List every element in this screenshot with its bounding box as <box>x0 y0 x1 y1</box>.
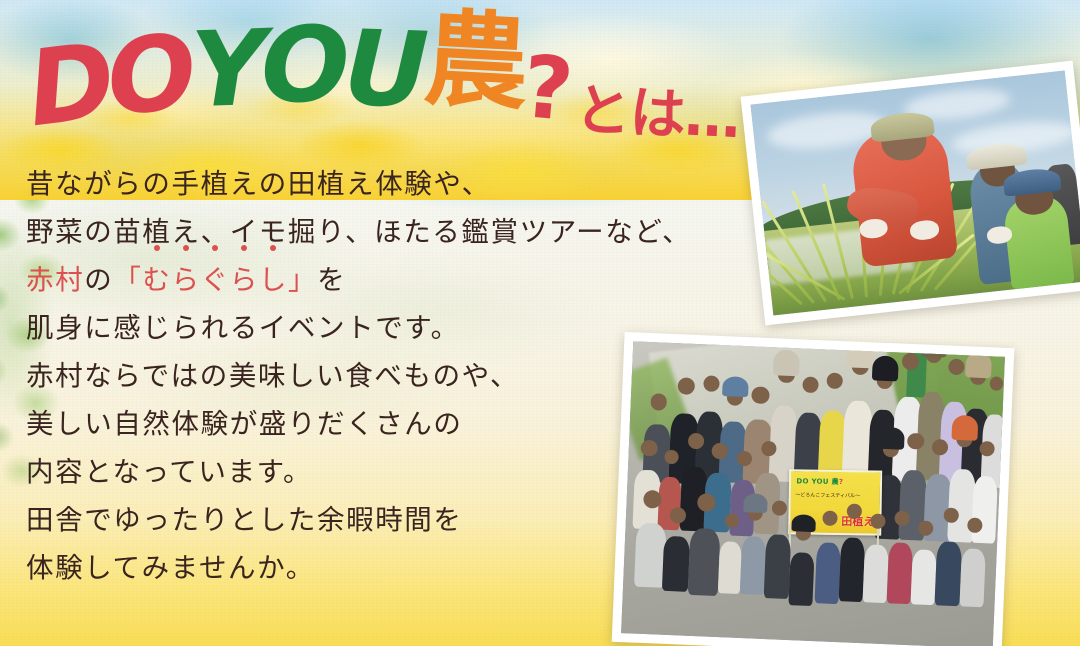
body-line-3-open-quote: 「 <box>113 264 142 296</box>
group-person <box>935 541 962 606</box>
group-scene: DO YOU 農? 〜どろんこフェスティバル〜 田植え <box>621 341 1005 646</box>
photo-group-shot: DO YOU 農? 〜どろんこフェスティバル〜 田植え <box>612 332 1015 646</box>
event-sign-line2: 〜どろんこフェスティバル〜 <box>795 491 860 499</box>
body-copy: 昔ながらの手植えの田植え体験や、 野菜の苗植え、イモ掘り、ほたる鑑賞ツアーなど、… <box>26 160 626 592</box>
title-row: D O Y O U 農 ? とは… <box>26 18 846 117</box>
group-person <box>662 536 690 593</box>
group-person <box>959 548 986 607</box>
body-line-7: 内容となっています。 <box>26 448 626 496</box>
body-line-3-village: 赤村 <box>26 264 84 296</box>
photo-rice-harvest <box>741 61 1080 326</box>
group-person <box>718 541 742 594</box>
group-person <box>838 537 865 602</box>
group-person <box>788 552 814 606</box>
group-person <box>814 542 841 604</box>
photo-group-shot-image: DO YOU 農? 〜どろんこフェスティバル〜 田植え <box>621 341 1005 646</box>
group-person <box>740 536 767 595</box>
group-person <box>764 534 791 599</box>
title-letter-o2: O <box>261 16 344 115</box>
body-line-3-close-quote: 」 <box>288 264 317 296</box>
group-person <box>887 542 914 604</box>
body-line-4: 肌身に感じられるイベントです。 <box>26 304 626 352</box>
body-line-3-no: の <box>84 264 113 296</box>
group-person <box>862 544 889 603</box>
body-line-2: 野菜の苗植え、イモ掘り、ほたる鑑賞ツアーなど、 <box>26 208 626 256</box>
body-line-8: 田舎でゆったりとした余暇時間を <box>26 496 626 544</box>
event-sign-line1: DO YOU 農? <box>796 476 843 487</box>
group-person <box>911 549 937 605</box>
body-line-3: 赤村の「むらぐらし」を <box>26 256 626 304</box>
body-line-6: 美しい自然体験が盛りだくさんの <box>26 400 626 448</box>
body-line-3-emphasized: むらぐらし <box>142 256 288 304</box>
group-person <box>688 528 721 596</box>
group-person <box>971 475 998 543</box>
title-letter-u: U <box>343 19 426 121</box>
page-title: D O Y O U 農 ? とは… <box>26 18 846 158</box>
body-line-5: 赤村ならではの美味しい食べものや、 <box>26 352 626 400</box>
title-letter-o1: O <box>105 23 195 127</box>
rice-scene <box>750 71 1080 316</box>
title-question-mark: ? <box>519 47 574 133</box>
body-line-1: 昔ながらの手植えの田植え体験や、 <box>26 160 626 208</box>
title-kanji-nou: 農 <box>422 9 531 113</box>
title-suffix-toha: とは… <box>573 83 741 145</box>
poster-canvas: D O Y O U 農 ? とは… 昔ながらの手植えの田植え体験や、 野菜の苗植… <box>0 0 1080 646</box>
body-line-9: 体験してみませんか。 <box>26 544 626 592</box>
photo-rice-harvest-image <box>750 71 1080 316</box>
title-letter-d: D <box>22 31 115 139</box>
body-line-3-wo: を <box>317 264 346 296</box>
title-letter-y: Y <box>189 19 263 120</box>
